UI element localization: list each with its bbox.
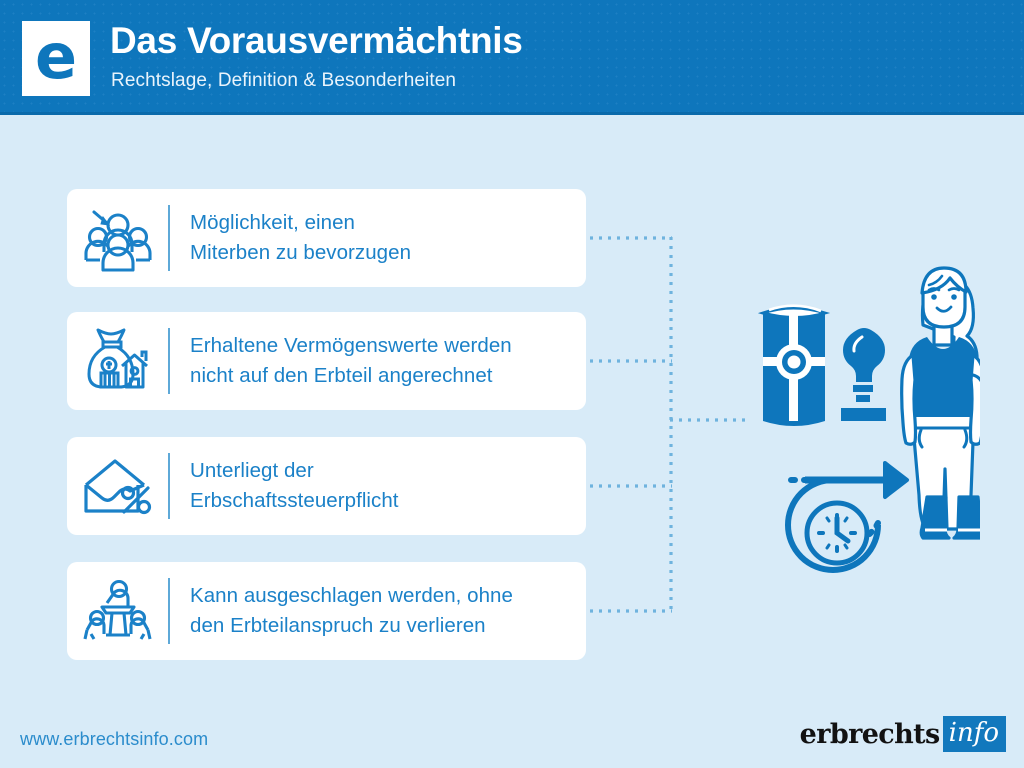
page-title: Das Vorausvermächtnis bbox=[110, 20, 523, 62]
site-logo-box: e bbox=[22, 21, 90, 96]
page-subtitle: Rechtslage, Definition & Besonderheiten bbox=[111, 70, 456, 92]
connector-lines bbox=[0, 0, 1024, 768]
logo-letter-e: e bbox=[35, 26, 77, 88]
